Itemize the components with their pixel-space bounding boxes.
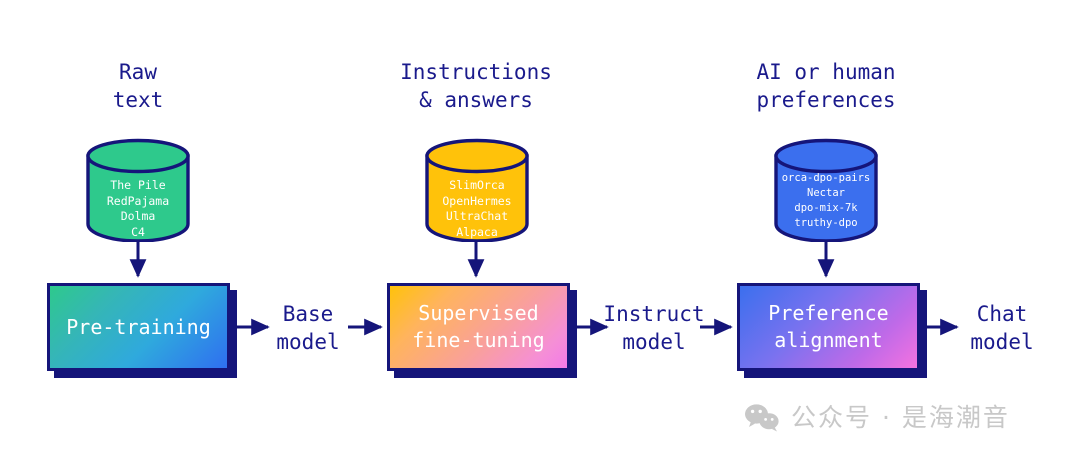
pre-training-box[interactable]: Pre-training [47,283,230,371]
supervised-fine-tuning-box[interactable]: Supervised fine-tuning [387,283,570,371]
cylinder-shape [773,138,879,242]
cylinder-shape [424,138,530,242]
stage-heading-preferences: AI or human preferences [736,58,916,114]
box-face: Pre-training [47,283,230,371]
box-face: Preference alignment [737,283,920,371]
instruct-model-label: Instruct model [596,300,712,356]
wechat-icon [744,403,780,433]
watermark: 公众号 · 是海潮音 [744,403,1010,433]
supervised-fine-tuning-label: Supervised fine-tuning [412,300,544,354]
pre-training-label: Pre-training [66,314,211,341]
preference-alignment-label: Preference alignment [768,300,888,354]
chat-model-label: Chat model [952,300,1052,356]
raw-text-datastore: The Pile RedPajama Dolma C4 [85,138,191,242]
preference-alignment-box[interactable]: Preference alignment [737,283,920,371]
stage-heading-raw-text: Raw text [58,58,218,114]
watermark-text: 公众号 · 是海潮音 [791,403,1010,433]
stage-heading-instructions: Instructions & answers [386,58,566,114]
preference-datastore: orca-dpo-pairs Nectar dpo-mix-7k truthy-… [773,138,879,242]
cylinder-shape [85,138,191,242]
base-model-label: Base model [258,300,358,356]
instruction-datastore: SlimOrca OpenHermes UltraChat Alpaca [424,138,530,242]
box-face: Supervised fine-tuning [387,283,570,371]
diagram-canvas: Raw text The Pile RedPajama Dolma C4 Pre… [0,0,1080,459]
